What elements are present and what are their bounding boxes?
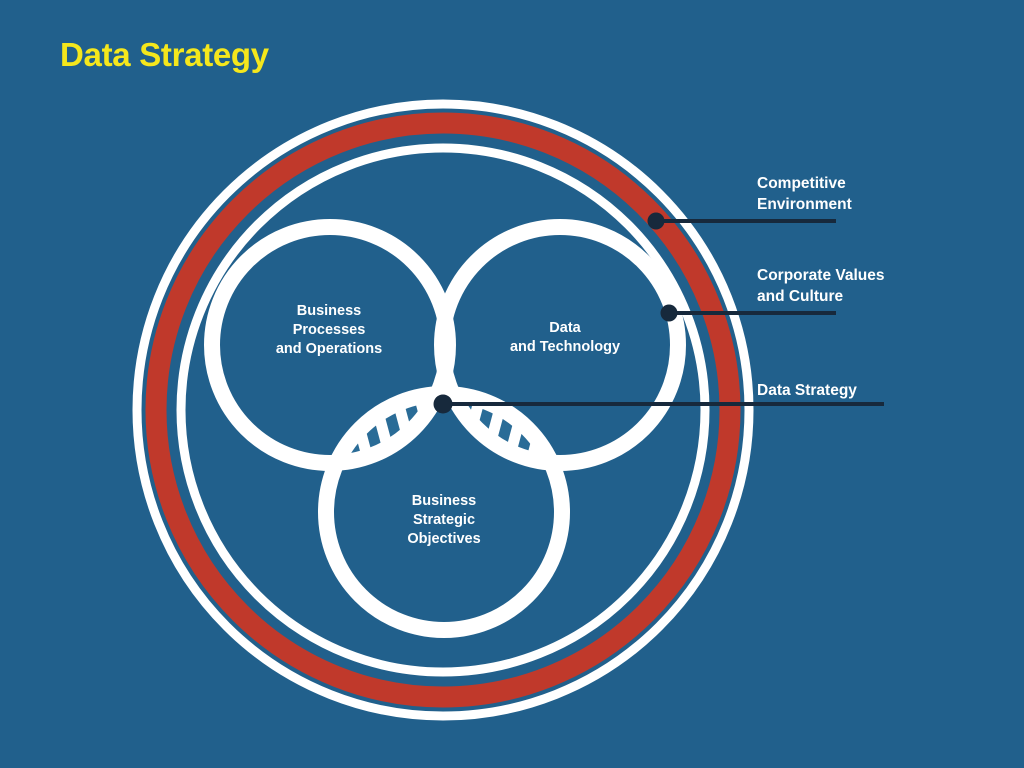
callout-dot-competitive-environment[interactable] [648, 213, 665, 230]
venn-label-business-strategic-objectives: Business Strategic Objectives [364, 492, 524, 549]
callout-label-data-strategy: Data Strategy [757, 381, 957, 402]
venn-label-data-and-technology: Data and Technology [485, 319, 645, 357]
venn-label-business-processes-and-operations: Business Processes and Operations [244, 302, 414, 359]
callout-dot-data-strategy[interactable] [434, 395, 453, 414]
diagram-canvas: Data Strategy [0, 0, 1024, 768]
callout-label-corporate-values-and-culture: Corporate Values and Culture [757, 266, 967, 308]
callout-label-competitive-environment: Competitive Environment [757, 174, 957, 216]
callout-dot-corporate-values-and-culture[interactable] [661, 305, 678, 322]
